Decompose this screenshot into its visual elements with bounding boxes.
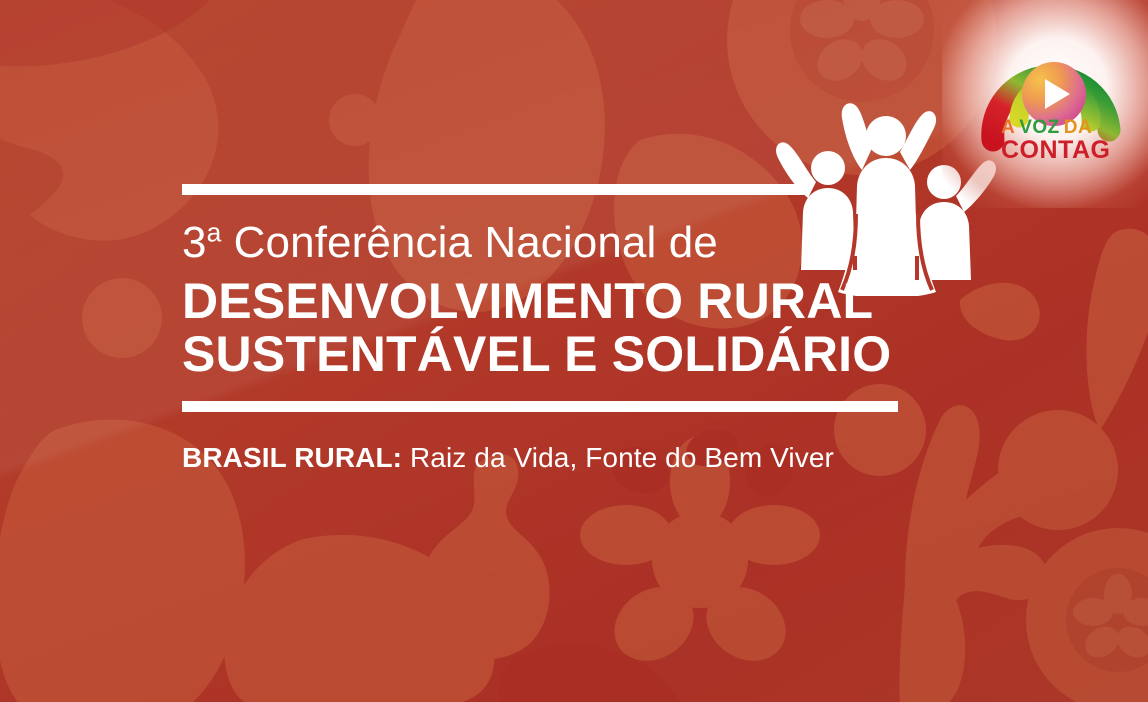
logo-word-voz: VOZ <box>1019 117 1060 138</box>
rule-top <box>182 184 807 195</box>
conference-banner: AVOZDA CONTAG 3a Conferência Nacional de… <box>0 0 1148 702</box>
logo-word-a: A <box>1001 117 1015 138</box>
tagline: BRASIL RURAL: Raiz da Vida, Fonte do Bem… <box>182 442 942 474</box>
conference-edition-subtitle: 3a Conferência Nacional de <box>182 221 942 265</box>
title-line-2: SUSTENTÁVEL E SOLIDÁRIO <box>182 328 942 381</box>
logo-line-2: CONTAG <box>1001 137 1141 163</box>
title-line-1: DESENVOLVIMENTO RURAL <box>182 275 942 328</box>
logo-word-da: DA <box>1064 117 1092 138</box>
headline-block: 3a Conferência Nacional de DESENVOLVIMEN… <box>182 184 942 474</box>
edition-number: 3 <box>182 218 207 267</box>
edition-ordinal: a <box>207 217 222 247</box>
a-voz-da-contag-logo[interactable]: AVOZDA CONTAG <box>975 18 1140 173</box>
tagline-rest: Raiz da Vida, Fonte do Bem Viver <box>402 442 834 473</box>
logo-line-1: AVOZDA <box>1001 118 1141 137</box>
rule-bottom <box>182 401 898 412</box>
subtitle-text: Conferência Nacional de <box>221 218 717 267</box>
tagline-bold: BRASIL RURAL: <box>182 442 402 473</box>
